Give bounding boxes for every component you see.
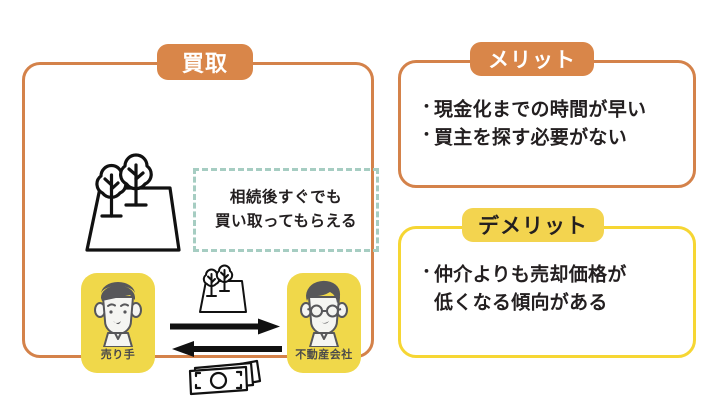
buyout-note-line-1: 相続後すぐでも	[230, 186, 342, 210]
merit-list: ・ 現金化までの時間が早い ・ 買主を探す必要がない	[419, 96, 683, 151]
buyout-panel: 相続後すぐでも 買い取ってもらえる	[22, 62, 374, 358]
demerit-item-1-line-2: 低くなる傾向がある	[434, 289, 683, 317]
list-item: ・ 現金化までの時間が早い	[419, 96, 683, 124]
buyout-note: 相続後すぐでも 買い取ってもらえる	[193, 168, 379, 252]
bullet-icon: ・	[419, 124, 434, 147]
demerit-panel: ・ 仲介よりも売却価格が 低くなる傾向がある	[398, 226, 696, 358]
land-with-trees-small-icon	[191, 261, 253, 315]
merit-panel: ・ 現金化までの時間が早い ・ 買主を探す必要がない	[398, 60, 696, 188]
buyout-note-line-2: 買い取ってもらえる	[215, 210, 357, 234]
list-item: ・ 仲介よりも売却価格が 低くなる傾向がある	[419, 262, 683, 317]
actor-seller-label: 売り手	[101, 346, 136, 362]
demerit-badge: デメリット	[462, 208, 604, 242]
demerit-item-1-line-1: 仲介よりも売却価格が	[434, 262, 683, 290]
actor-company: 不動産会社	[287, 273, 361, 373]
infographic-canvas: 相続後すぐでも 買い取ってもらえる	[0, 0, 720, 400]
merit-item-1-line-1: 現金化までの時間が早い	[434, 96, 683, 124]
person-with-glasses-icon	[294, 277, 354, 347]
land-with-trees-icon	[69, 147, 193, 255]
arrow-right-icon	[170, 319, 280, 335]
buyout-badge: 買取	[157, 44, 253, 80]
merit-item-2-line-1: 買主を探す必要がない	[434, 124, 683, 152]
bullet-icon: ・	[419, 96, 434, 119]
demerit-list: ・ 仲介よりも売却価格が 低くなる傾向がある	[419, 262, 683, 317]
list-item: ・ 買主を探す必要がない	[419, 124, 683, 152]
person-face-icon	[88, 277, 148, 347]
bullet-icon: ・	[419, 262, 434, 285]
actor-seller: 売り手	[81, 273, 155, 373]
merit-badge: メリット	[470, 42, 594, 76]
banknotes-icon	[187, 357, 263, 399]
actor-company-label: 不動産会社	[295, 346, 353, 362]
arrow-left-icon	[172, 341, 282, 357]
